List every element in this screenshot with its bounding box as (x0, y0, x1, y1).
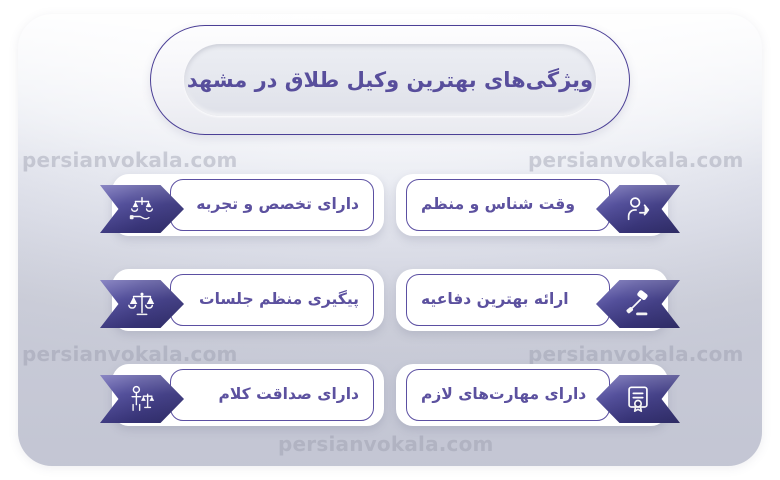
title-inner-plate: ویژگی‌های بهترین وکیل طلاق در مشهد (184, 44, 596, 116)
feature-card-specialty-experience[interactable]: دارای تخصص و تجربه (112, 174, 384, 236)
feature-row: دارای صداقت کلام دارای مها (0, 360, 780, 455)
feature-grid: دارای تخصص و تجربه وقت شناس و منظم (0, 170, 780, 455)
feature-card-label: دارای مهارت‌های لازم (421, 387, 586, 403)
feature-card-body: ارائه بهترین دفاعیه (406, 274, 610, 326)
feature-card-label: دارای صداقت کلام (219, 387, 359, 403)
feature-card-regular-session-followup[interactable]: پیگیری منظم جلسات (112, 269, 384, 331)
feature-card-best-defense[interactable]: ارائه بهترین دفاعیه (396, 269, 668, 331)
feature-card-label: دارای تخصص و تجربه (196, 197, 359, 213)
feature-card-body: دارای تخصص و تجربه (170, 179, 374, 231)
feature-card-punctual-organized[interactable]: وقت شناس و منظم (396, 174, 668, 236)
feature-card-body: دارای مهارت‌های لازم (406, 369, 610, 421)
feature-card-body: دارای صداقت کلام (170, 369, 374, 421)
title-banner: ویژگی‌های بهترین وکیل طلاق در مشهد (150, 25, 630, 135)
feature-row: پیگیری منظم جلسات ارائه بهترین دفاعیه (0, 265, 780, 360)
feature-card-label: وقت شناس و منظم (421, 197, 575, 213)
feature-card-body: پیگیری منظم جلسات (170, 274, 374, 326)
feature-card-honest-speech[interactable]: دارای صداقت کلام (112, 364, 384, 426)
feature-card-required-skills[interactable]: دارای مهارت‌های لازم (396, 364, 668, 426)
infographic-canvas: persianvokala.com persianvokala.com pers… (0, 0, 780, 480)
feature-card-body: وقت شناس و منظم (406, 179, 610, 231)
page-title: ویژگی‌های بهترین وکیل طلاق در مشهد (187, 66, 593, 94)
feature-card-label: پیگیری منظم جلسات (199, 292, 359, 308)
feature-card-label: ارائه بهترین دفاعیه (421, 292, 569, 308)
feature-row: دارای تخصص و تجربه وقت شناس و منظم (0, 170, 780, 265)
